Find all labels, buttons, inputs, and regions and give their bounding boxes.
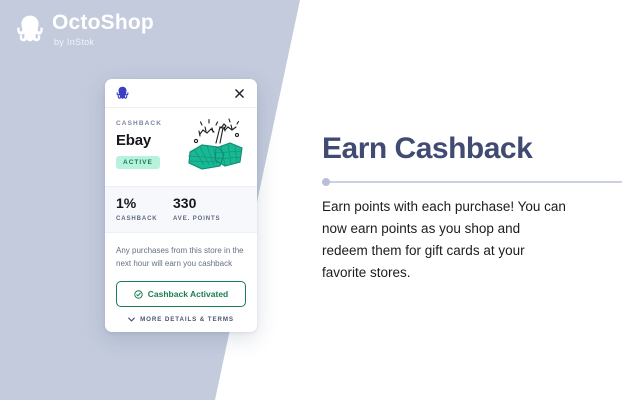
cashback-card: CASHBACK Ebay ACTIVE — [105, 79, 257, 332]
stat-label: AVE. POINTS — [173, 216, 220, 222]
card-footer: Any purchases from this store in the nex… — [105, 233, 257, 332]
store-name: Ebay — [116, 132, 162, 149]
brand-tagline: by InStok — [54, 38, 154, 47]
gift-boxes-confetti-illustration — [180, 118, 246, 176]
stat-ave-points: 330 AVE. POINTS — [173, 196, 220, 222]
divider — [322, 178, 618, 186]
chevron-down-icon — [128, 317, 135, 322]
cta-label: Cashback Activated — [148, 289, 228, 299]
octopus-icon — [116, 86, 129, 100]
stat-value: 330 — [173, 196, 220, 211]
close-button[interactable] — [232, 86, 246, 100]
divider-dot — [322, 178, 330, 186]
close-icon — [235, 89, 244, 98]
stat-cashback: 1% CASHBACK — [116, 196, 173, 222]
card-eyebrow: CASHBACK — [116, 120, 162, 127]
store-info: CASHBACK Ebay ACTIVE — [116, 118, 162, 169]
status-badge: ACTIVE — [116, 156, 160, 169]
card-body: CASHBACK Ebay ACTIVE — [105, 108, 257, 187]
more-details-toggle[interactable]: MORE DETAILS & TERMS — [116, 316, 246, 323]
brand-name: OctoShop — [52, 12, 154, 33]
promo-paragraph: Earn points with each purchase! You can … — [322, 196, 566, 283]
stats-strip: 1% CASHBACK 330 AVE. POINTS — [105, 187, 257, 233]
more-details-label: MORE DETAILS & TERMS — [140, 316, 234, 323]
card-header — [105, 79, 257, 108]
page-title: Earn Cashback — [322, 132, 618, 165]
promo-screen: OctoShop by InStok CASHBACK Ebay ACTIVE — [0, 0, 640, 400]
cashback-activated-button[interactable]: Cashback Activated — [116, 281, 246, 307]
stat-value: 1% — [116, 196, 173, 211]
promo-copy: Earn Cashback Earn points with each purc… — [322, 132, 618, 283]
divider-line — [326, 181, 622, 183]
brand-logo: OctoShop by InStok — [16, 12, 154, 47]
octopus-icon — [16, 14, 44, 44]
check-circle-icon — [134, 290, 143, 299]
stat-label: CASHBACK — [116, 216, 173, 222]
cashback-note: Any purchases from this store in the nex… — [116, 244, 246, 270]
